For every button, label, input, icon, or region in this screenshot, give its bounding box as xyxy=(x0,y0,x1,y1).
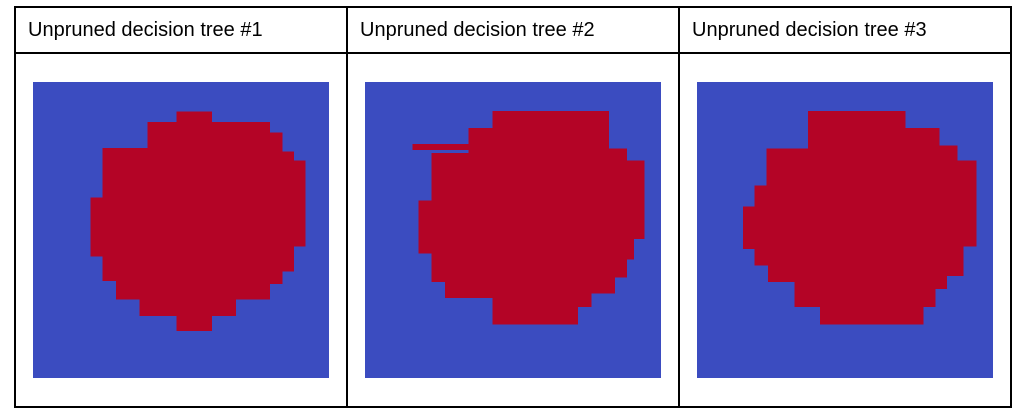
table-row xyxy=(15,53,1011,407)
table-header-row-group: Unpruned decision tree #1 Unpruned decis… xyxy=(15,7,1011,53)
column-header-label: Unpruned decision tree #1 xyxy=(16,18,346,42)
class-1-sliver-region xyxy=(412,144,468,150)
table-header-row: Unpruned decision tree #1 Unpruned decis… xyxy=(15,7,1011,53)
column-header-label: Unpruned decision tree #3 xyxy=(680,18,1010,42)
table-body xyxy=(15,53,1011,407)
figure-root: Unpruned decision tree #1 Unpruned decis… xyxy=(0,0,1028,418)
column-header-tree-1: Unpruned decision tree #1 xyxy=(15,7,347,53)
plot-cell-tree-1 xyxy=(15,53,347,407)
plot-wrapper xyxy=(16,54,346,406)
column-header-label: Unpruned decision tree #2 xyxy=(348,18,678,42)
decision-boundary-plot-1 xyxy=(33,82,329,378)
plot-cell-tree-3 xyxy=(679,53,1011,407)
plot-wrapper xyxy=(680,54,1010,406)
plot-wrapper xyxy=(348,54,678,406)
decision-boundary-plot-2 xyxy=(365,82,661,378)
column-header-tree-3: Unpruned decision tree #3 xyxy=(679,7,1011,53)
decision-tree-comparison-table: Unpruned decision tree #1 Unpruned decis… xyxy=(14,6,1012,408)
column-header-tree-2: Unpruned decision tree #2 xyxy=(347,7,679,53)
plot-cell-tree-2 xyxy=(347,53,679,407)
decision-boundary-plot-3 xyxy=(697,82,993,378)
